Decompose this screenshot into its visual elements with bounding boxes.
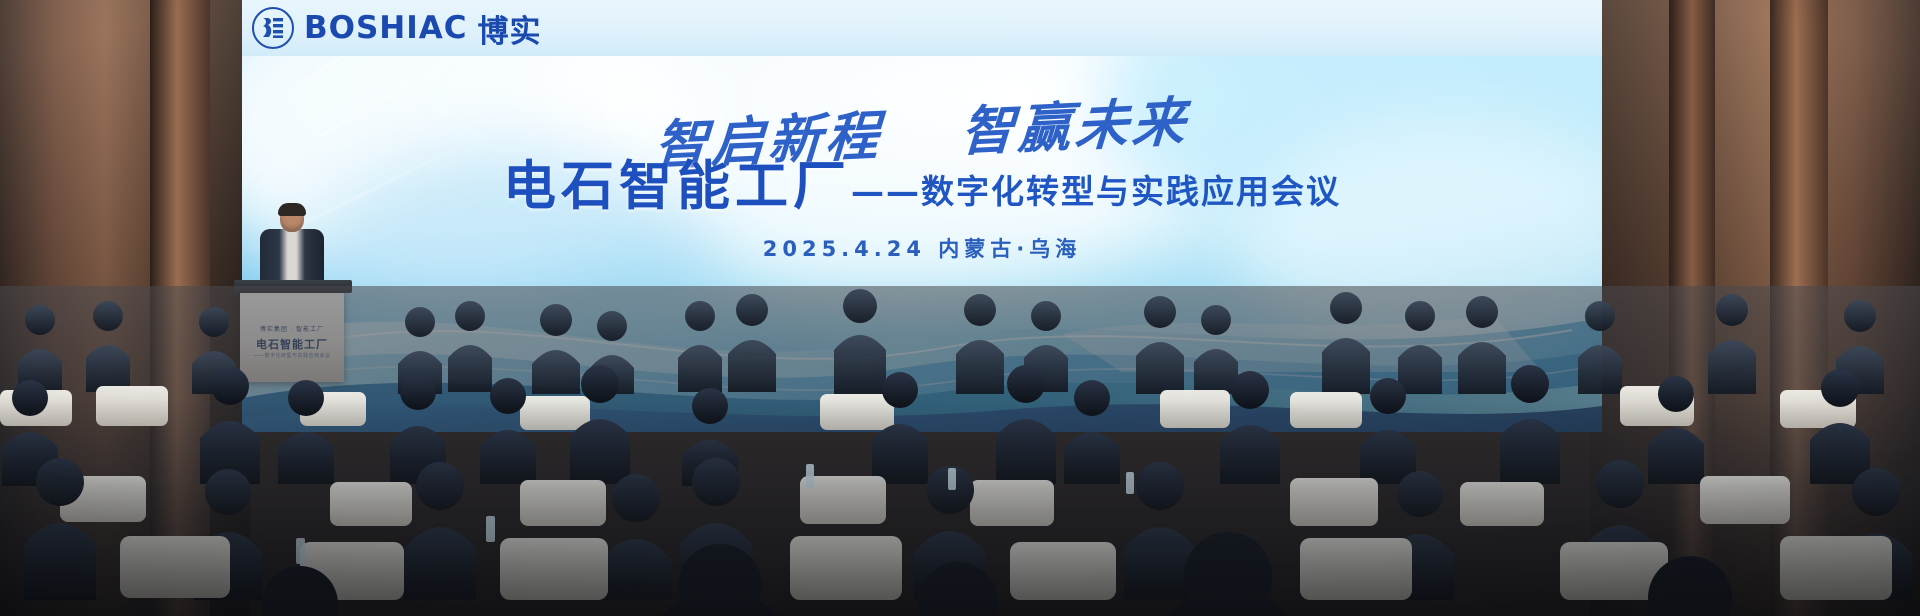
conference-title-dash: ——	[851, 175, 921, 213]
calligraphy-gap	[904, 151, 938, 153]
boshiac-circular-logo-icon	[252, 7, 294, 49]
seated-audience	[0, 286, 1920, 616]
conference-photo-scene: 智启新程 智赢未来 电石智能工厂 —— 数字化转型与实践应用会议 2025.4.…	[0, 0, 1920, 616]
presenter-hair	[278, 203, 306, 216]
brand-wordmark: BOSHIAC	[304, 10, 468, 46]
calligraphy-phrase-2: 智赢未来	[959, 91, 1190, 164]
conference-subtitle: 数字化转型与实践应用会议	[921, 175, 1341, 213]
conference-date-location: 2025.4.24 内蒙古·乌海	[242, 233, 1602, 263]
screen-title-row: 电石智能工厂 —— 数字化转型与实践应用会议	[242, 160, 1602, 213]
conference-main-title: 电石智能工厂	[503, 160, 851, 213]
brand-logo-bar: BOSHIAC 博实	[242, 0, 1602, 56]
brand-logo-group: BOSHIAC 博实	[252, 6, 542, 51]
brand-wordmark-chinese: 博实	[478, 6, 542, 51]
